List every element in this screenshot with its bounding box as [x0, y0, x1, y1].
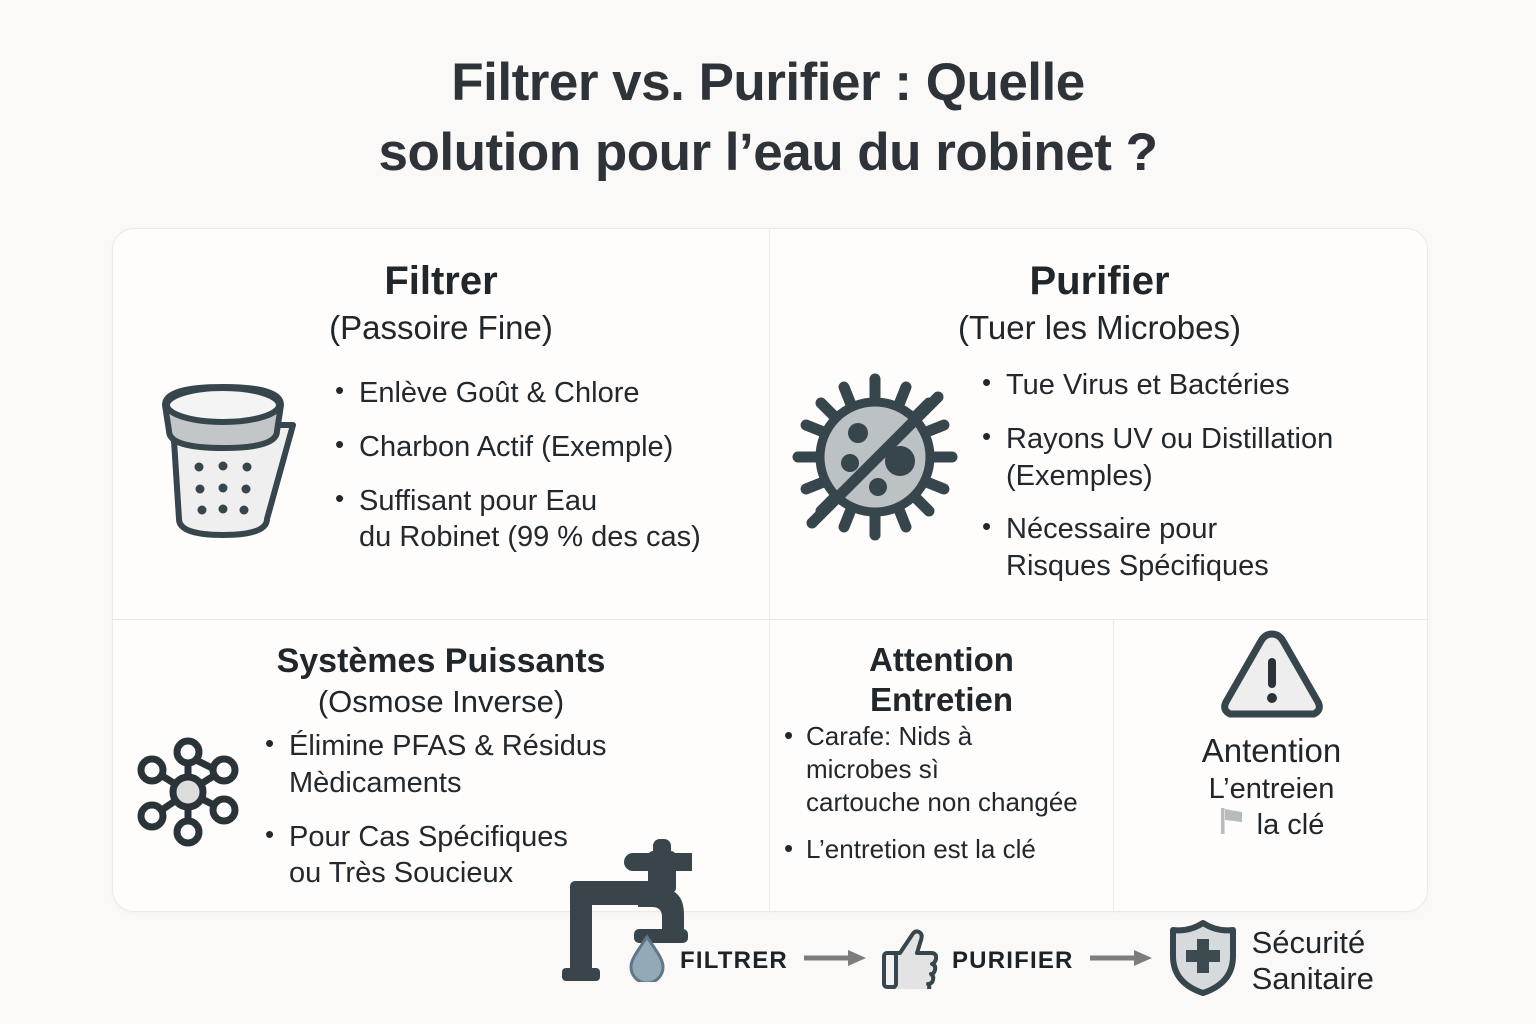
- systemes-heading: Systèmes Puissants: [113, 642, 769, 680]
- list-item: Enlève Goût & Chlore: [333, 375, 701, 412]
- antention-line2-row: la clé: [1114, 806, 1429, 844]
- quadrant-antention: Antention L’entreien la clé: [1114, 620, 1429, 913]
- flow-row: FILTRER PURIFIER: [628, 919, 1374, 1002]
- systemes-bullet-list: Élimine PFAS & Résidus Mèdicaments Pour …: [263, 728, 607, 909]
- purifier-bullet-list: Tue Virus et Bactéries Rayons UV ou Dist…: [980, 367, 1333, 602]
- thumbs-up-icon: [882, 927, 938, 994]
- list-item: Carafe: Nids à microbes sì cartouche non…: [782, 720, 1112, 819]
- page-title: Filtrer vs. Purifier : Quelle solution p…: [0, 48, 1536, 188]
- antention-line2: la clé: [1257, 809, 1325, 842]
- systemes-subheading: (Osmose Inverse): [113, 683, 769, 720]
- filtrer-bullet-list: Enlève Goût & Chlore Charbon Actif (Exem…: [333, 375, 701, 573]
- step2-label: PURIFIER: [952, 947, 1074, 975]
- list-item: Tue Virus et Bactéries: [980, 367, 1333, 404]
- shield-group: Sécurité Sanitaire: [1168, 919, 1374, 1002]
- list-item: Élimine PFAS & Résidus Mèdicaments: [263, 728, 607, 802]
- shield-label: Sécurité Sanitaire: [1252, 925, 1374, 997]
- warning-triangle-icon: [1114, 626, 1429, 724]
- attention-heading: Attention Entretien: [770, 640, 1113, 719]
- footer-flow: FILTRER PURIFIER: [0, 905, 1536, 993]
- attention-bullet-list: Carafe: Nids à microbes sì cartouche non…: [782, 720, 1112, 866]
- filtrer-heading: Filtrer: [113, 259, 769, 304]
- list-item: Pour Cas Spécifiques ou Très Soucieux: [263, 819, 607, 893]
- filter-cup-icon: [113, 369, 333, 573]
- list-item: Suffisant pour Eau du Robinet (99 % des …: [333, 483, 701, 557]
- shield-plus-icon: [1168, 919, 1238, 1002]
- list-item: Nécessaire pour Risques Spécifiques: [980, 511, 1333, 585]
- droplet-icon: [628, 934, 666, 987]
- antention-line1: L’entreien: [1114, 773, 1429, 806]
- purifier-heading: Purifier: [770, 259, 1429, 304]
- arrow-right-icon: [802, 948, 868, 973]
- virus-blocked-icon: [770, 365, 980, 602]
- molecule-icon: [113, 728, 263, 909]
- filtrer-subheading: (Passoire Fine): [113, 308, 769, 348]
- purifier-subheading: (Tuer les Microbes): [770, 308, 1429, 348]
- flag-icon: [1219, 806, 1245, 844]
- list-item: Rayons UV ou Distillation (Exemples): [980, 421, 1333, 495]
- list-item: Charbon Actif (Exemple): [333, 429, 701, 466]
- infographic-root: Filtrer vs. Purifier : Quelle solution p…: [0, 0, 1536, 1024]
- quadrant-filtrer: Filtrer (Passoire Fine): [113, 229, 769, 619]
- antention-label: Antention: [1114, 732, 1429, 770]
- list-item: L’entretion est la clé: [782, 833, 1112, 866]
- comparison-card: Filtrer (Passoire Fine): [112, 228, 1428, 912]
- step1-label: FILTRER: [680, 947, 788, 975]
- quadrant-attention: Attention Entretien Carafe: Nids à micro…: [770, 620, 1113, 913]
- arrow-right-icon-2: [1088, 948, 1154, 973]
- quadrant-purifier: Purifier (Tuer les Microbes): [770, 229, 1429, 619]
